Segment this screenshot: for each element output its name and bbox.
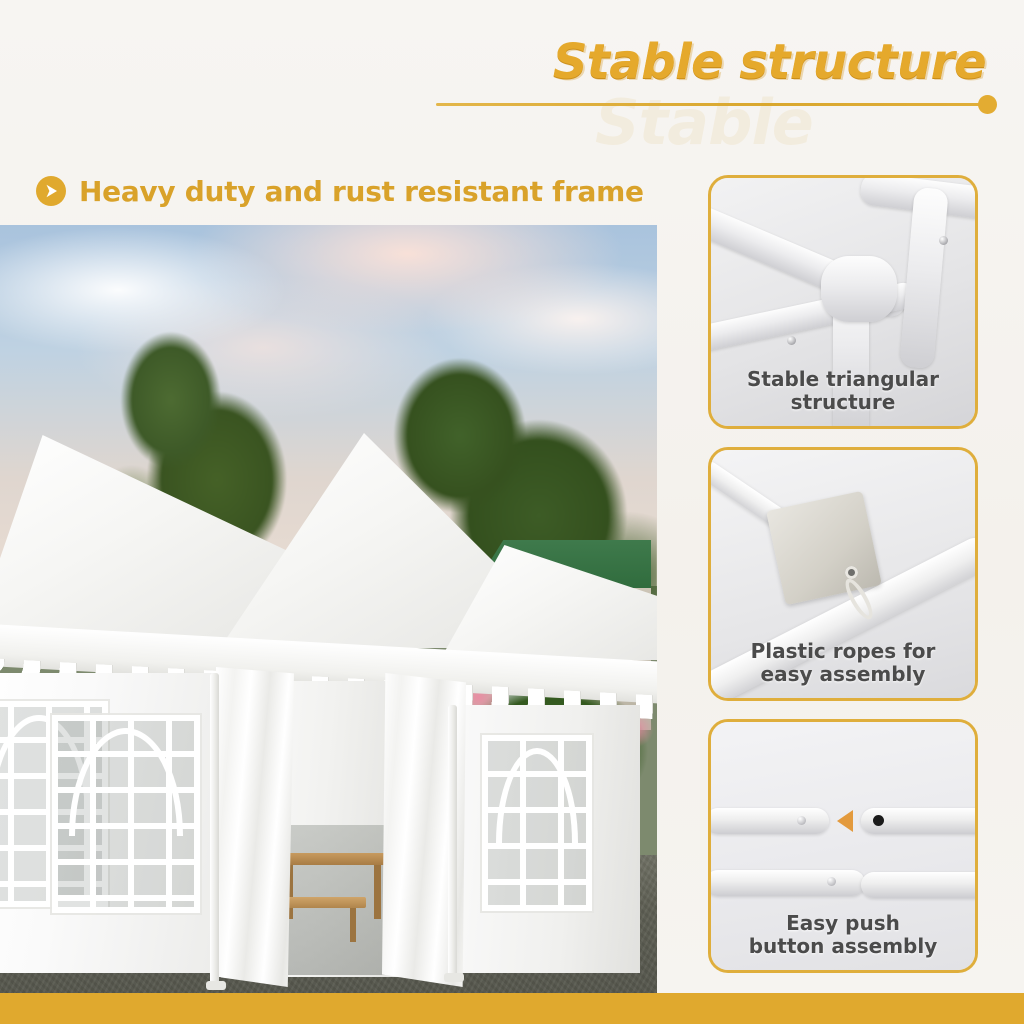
assembly-arrow-icon bbox=[837, 810, 853, 832]
card-caption-line1: Plastic ropes for bbox=[719, 640, 967, 663]
frame-tube bbox=[711, 870, 865, 896]
feature-card-triangular-structure[interactable]: Stable triangular structure bbox=[708, 175, 978, 429]
tent-corner-pole bbox=[448, 705, 457, 977]
tent-pole-foot bbox=[206, 981, 226, 990]
card-caption-line2: button assembly bbox=[719, 935, 967, 958]
feature-card-push-button[interactable]: Easy push button assembly bbox=[708, 719, 978, 973]
card-caption-line1: Stable triangular bbox=[719, 368, 967, 391]
push-button-icon bbox=[797, 816, 806, 825]
bottom-accent-bar bbox=[0, 993, 1024, 1024]
card-caption-line2: easy assembly bbox=[719, 663, 967, 686]
frame-tube bbox=[711, 808, 829, 834]
push-button-icon bbox=[827, 877, 836, 886]
table-leg bbox=[374, 865, 381, 919]
feature-card-plastic-ropes[interactable]: Plastic ropes for easy assembly bbox=[708, 447, 978, 701]
title-end-dot-icon bbox=[978, 95, 997, 114]
bench-leg bbox=[350, 908, 356, 942]
tent-arched-window bbox=[482, 735, 592, 911]
tent-corner-pole bbox=[210, 673, 219, 985]
push-button-hole-icon bbox=[873, 815, 884, 826]
card-caption-line2: structure bbox=[719, 391, 967, 414]
play-circle-icon bbox=[36, 176, 66, 206]
card-caption-line1: Easy push bbox=[719, 912, 967, 935]
card-caption: Easy push button assembly bbox=[719, 912, 967, 958]
tent-door-curtain bbox=[216, 667, 294, 987]
rope-grommet-hole bbox=[845, 566, 858, 579]
frame-joint-hub bbox=[821, 256, 897, 322]
party-tent bbox=[0, 405, 657, 993]
plastic-rope-tab bbox=[766, 491, 882, 605]
screw-icon bbox=[939, 236, 948, 245]
hero-product-photo bbox=[0, 225, 657, 993]
tent-pole-foot bbox=[444, 973, 464, 982]
card-caption: Plastic ropes for easy assembly bbox=[719, 640, 967, 686]
infographic-page: Stable Stable structure Heavy duty and r… bbox=[0, 0, 1024, 1024]
tent-arched-window bbox=[52, 715, 200, 913]
wooden-table bbox=[274, 853, 394, 865]
page-title: Stable structure bbox=[553, 34, 986, 90]
frame-tube bbox=[861, 872, 975, 898]
feature-headline-text: Heavy duty and rust resistant frame bbox=[79, 175, 644, 208]
feature-headline: Heavy duty and rust resistant frame bbox=[36, 171, 644, 211]
screw-icon bbox=[787, 336, 796, 345]
card-caption: Stable triangular structure bbox=[719, 368, 967, 414]
page-title-block: Stable structure bbox=[430, 34, 1010, 124]
title-underline bbox=[436, 103, 991, 106]
